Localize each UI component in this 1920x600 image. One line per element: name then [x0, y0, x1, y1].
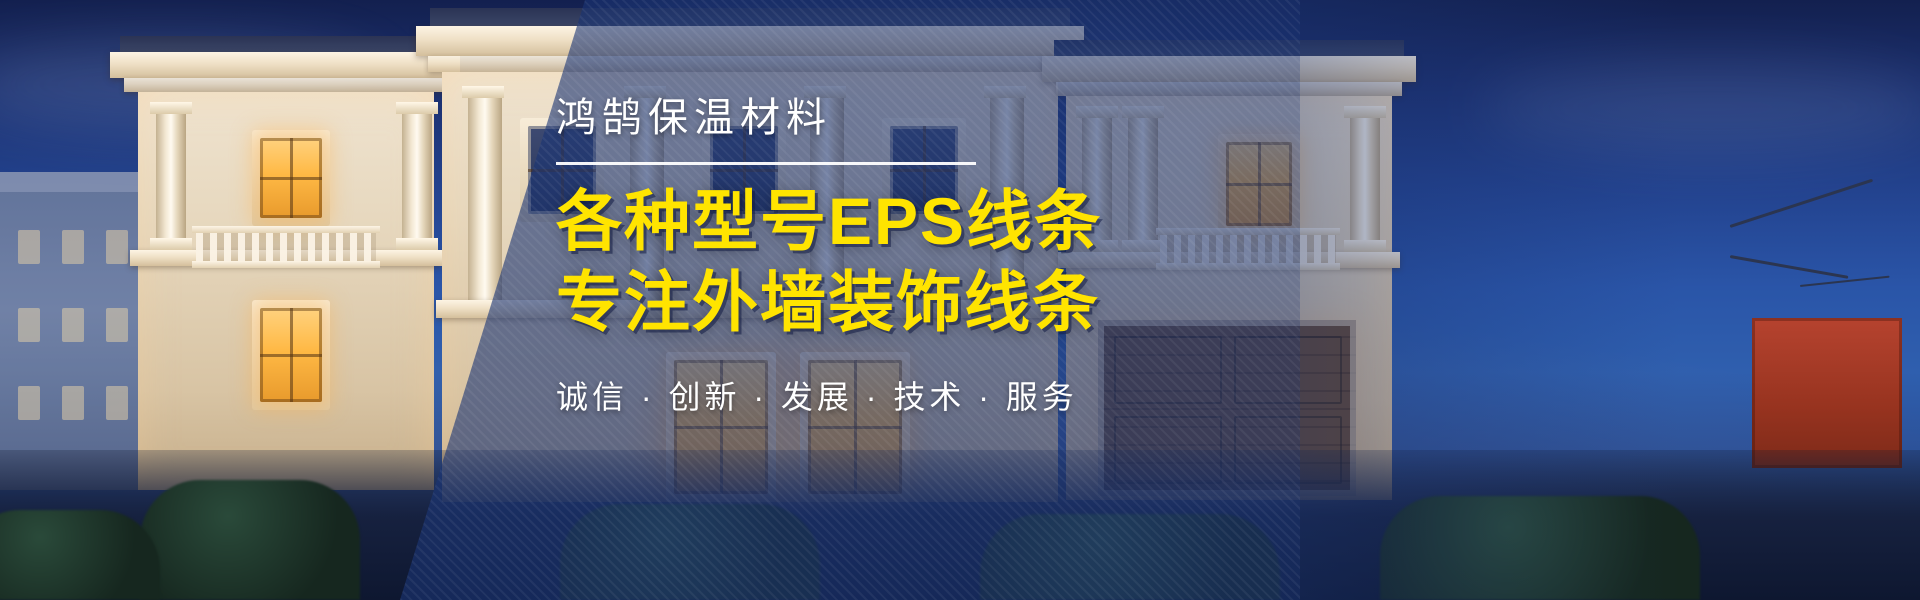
- headline-line-1: 各种型号EPS线条: [556, 181, 1556, 262]
- hedge: [140, 480, 360, 600]
- promo-banner: 鸿鹄保温材料 各种型号EPS线条 专注外墙装饰线条 诚信 · 创新 · 发展 ·…: [0, 0, 1920, 600]
- shipping-container: [1752, 318, 1902, 468]
- tagline: 诚信 · 创新 · 发展 · 技术 · 服务: [556, 372, 1556, 418]
- banner-content: 鸿鹄保温材料 各种型号EPS线条 专注外墙装饰线条 诚信 · 创新 · 发展 ·…: [556, 96, 1556, 418]
- headline-line-2: 专注外墙装饰线条: [556, 262, 1556, 343]
- brand-name: 鸿鹄保温材料: [556, 96, 1556, 140]
- hedge: [0, 510, 160, 600]
- divider-rule: [556, 162, 976, 165]
